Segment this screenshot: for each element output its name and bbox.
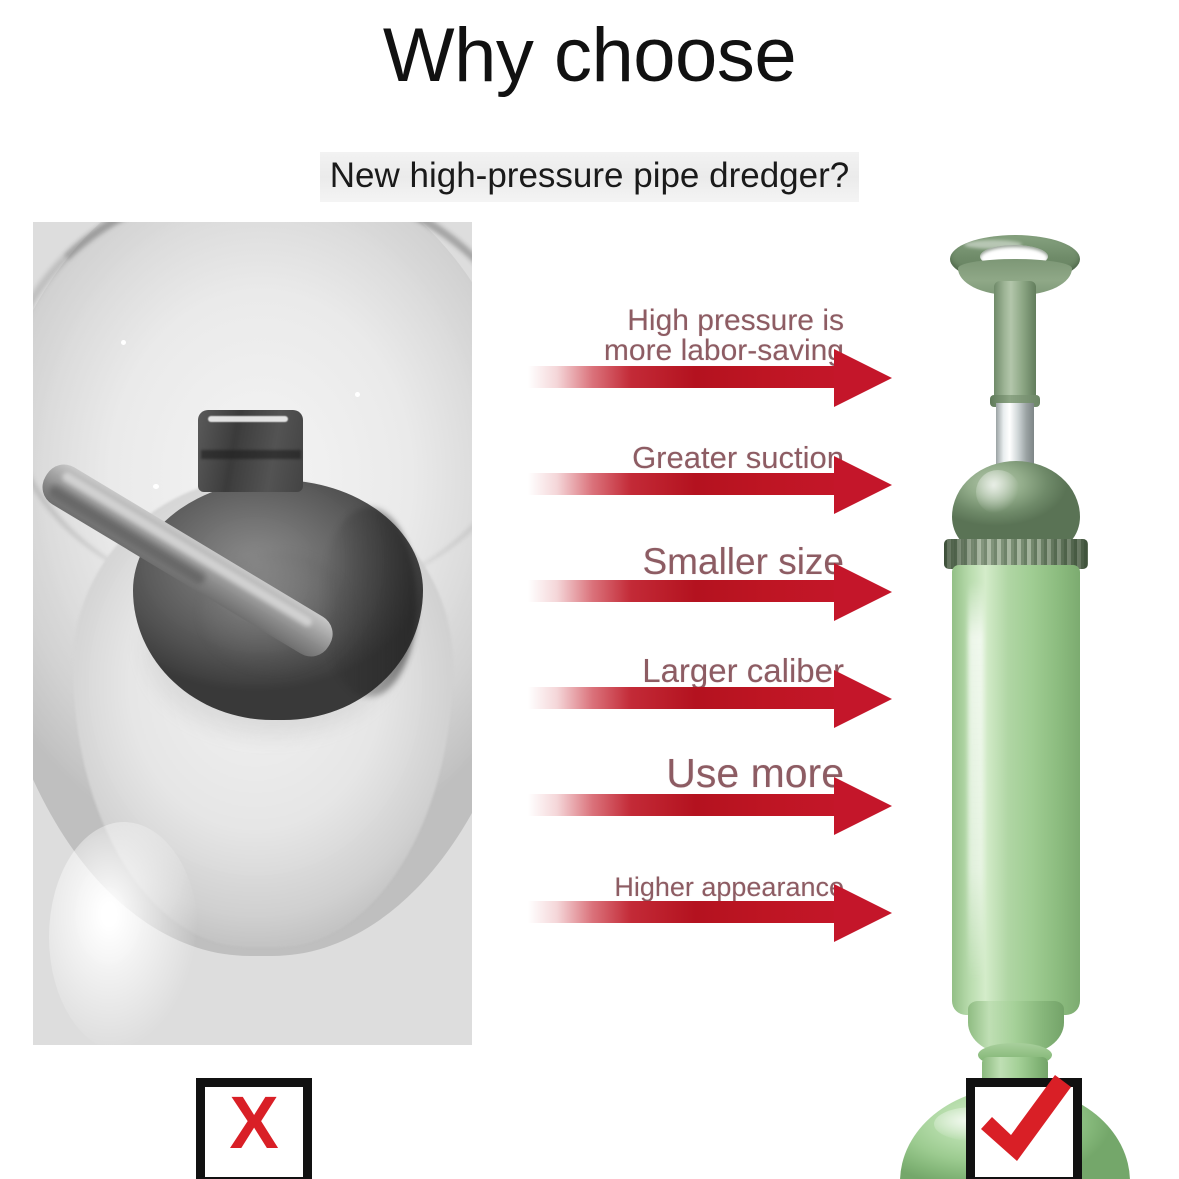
page-title: Why choose [0,14,1179,98]
benefit-arrow-icon [520,563,892,621]
benefit-row: Use more [520,728,892,835]
arrow-shaft [528,794,850,816]
benefit-row: Greater suction [520,407,892,514]
benefit-row: High pressure is more labor-saving [520,300,892,407]
benefit-arrow-icon [520,670,892,728]
benefit-row: Higher appearance [520,835,892,942]
arrow-shaft [528,473,850,495]
x-icon: X [205,1087,303,1177]
arrow-head [834,349,892,407]
verdict-box-positive [966,1078,1082,1179]
old-plunger-photo [33,222,472,1045]
plunger-cup-edge-shadow [321,507,417,697]
bowl-speck [153,484,159,489]
benefit-row: Smaller size [520,514,892,621]
arrow-shaft [528,366,850,388]
verdict-box-negative: X [196,1078,312,1179]
bowl-speck [121,340,126,345]
arrow-head [834,670,892,728]
benefit-arrow-icon [520,349,892,407]
benefit-arrow-icon [520,884,892,942]
product-image [890,215,1170,1045]
product-barrel-highlight [968,581,984,981]
arrow-head [834,563,892,621]
product-handle-stem [994,281,1036,401]
page-subtitle-container: New high-pressure pipe dredger? [0,152,1179,202]
product-dome-highlight [976,470,1020,514]
check-icon [959,1057,1083,1179]
infographic-page: Why choose New high-pressure pipe dredge… [0,0,1179,1179]
arrow-head [834,777,892,835]
benefit-arrow-icon [520,456,892,514]
plunger-neck-band [201,450,301,459]
benefit-arrow-icon [520,777,892,835]
bowl-highlight [49,822,199,1045]
arrow-shaft [528,687,850,709]
page-subtitle: New high-pressure pipe dredger? [320,152,859,202]
bowl-speck [355,392,360,397]
product-dome-cap [952,461,1080,551]
arrow-shaft [528,901,850,923]
benefit-row: Larger caliber [520,621,892,728]
arrow-shaft [528,580,850,602]
arrow-head [834,884,892,942]
arrow-head [834,456,892,514]
